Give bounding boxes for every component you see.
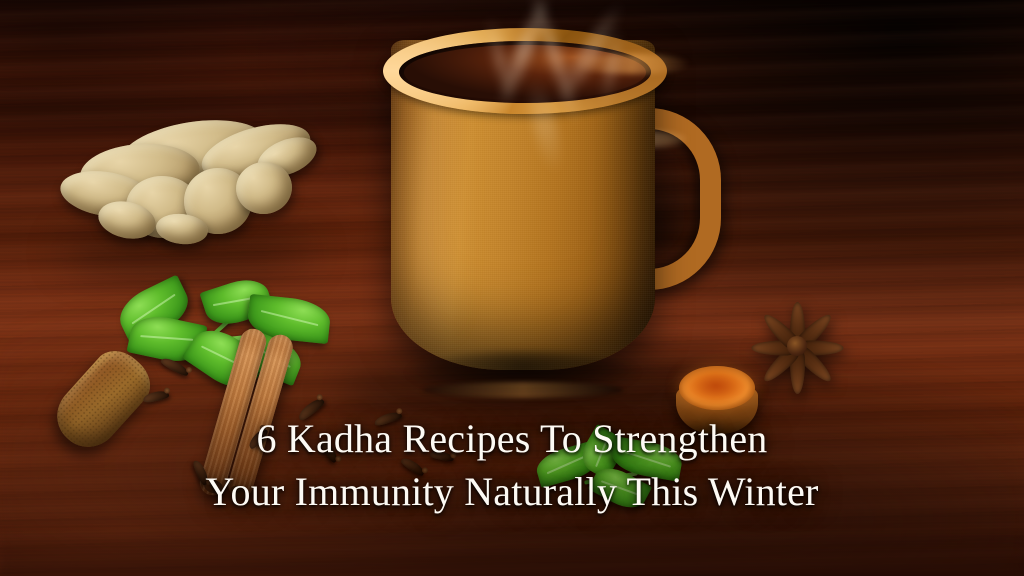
mug-foot-ring <box>423 382 623 398</box>
turmeric-slice-flesh <box>679 366 755 410</box>
mug-of-kadha <box>383 24 723 406</box>
title-line-1: 6 Kadha Recipes To Strengthen <box>0 412 1024 465</box>
banner-image: 6 Kadha Recipes To Strengthen Your Immun… <box>0 0 1024 576</box>
star-anise <box>746 298 848 394</box>
foreground-blur <box>0 530 1024 576</box>
title-line-2: Your Immunity Naturally This Winter <box>0 465 1024 518</box>
star-anise-center <box>787 336 807 356</box>
page-title: 6 Kadha Recipes To Strengthen Your Immun… <box>0 412 1024 518</box>
ginger-root <box>60 118 320 268</box>
